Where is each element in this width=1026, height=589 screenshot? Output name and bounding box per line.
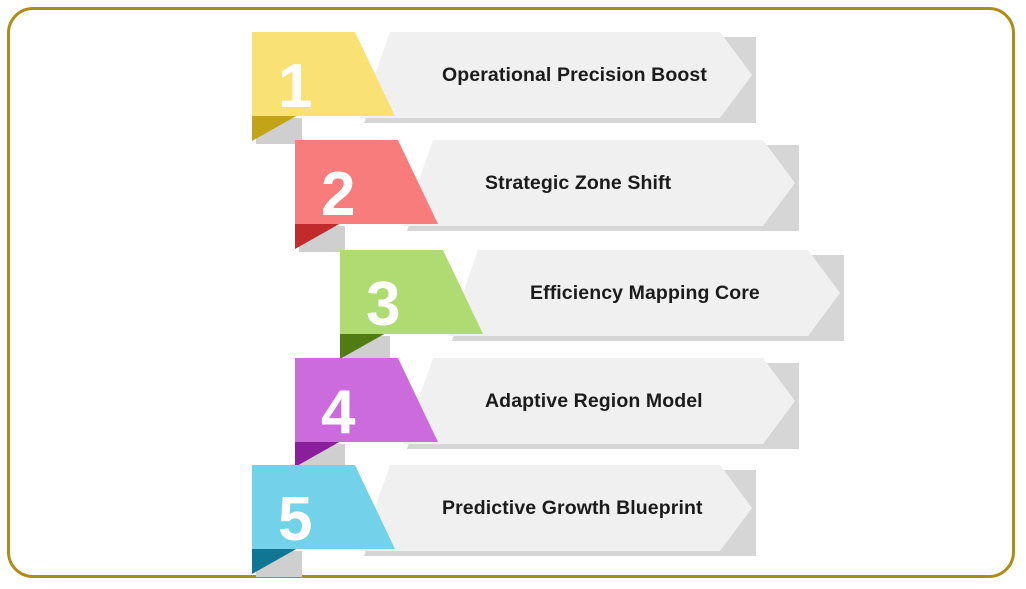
banner-body: Adaptive Region Model bbox=[403, 358, 795, 444]
step-row[interactable]: Predictive Growth Blueprint5 bbox=[252, 465, 762, 555]
step-number-block[interactable]: 3 bbox=[340, 250, 483, 360]
banner-body: Strategic Zone Shift bbox=[403, 140, 795, 226]
step-label: Efficiency Mapping Core bbox=[530, 282, 760, 305]
step-banner[interactable]: Predictive Growth Blueprint bbox=[360, 465, 752, 551]
number-block-body bbox=[295, 358, 438, 442]
step-row[interactable]: Strategic Zone Shift2 bbox=[295, 140, 805, 230]
number-block-body bbox=[252, 32, 395, 116]
step-banner[interactable]: Efficiency Mapping Core bbox=[448, 250, 840, 336]
step-number-block[interactable]: 1 bbox=[252, 32, 395, 142]
step-number-block[interactable]: 5 bbox=[252, 465, 395, 575]
step-row[interactable]: Efficiency Mapping Core3 bbox=[340, 250, 850, 340]
banner-body: Predictive Growth Blueprint bbox=[360, 465, 752, 551]
step-number: 2 bbox=[321, 164, 355, 226]
step-row[interactable]: Operational Precision Boost1 bbox=[252, 32, 762, 122]
diagram-canvas: Operational Precision Boost1Strategic Zo… bbox=[0, 0, 1026, 589]
banner-body: Operational Precision Boost bbox=[360, 32, 752, 118]
step-label: Adaptive Region Model bbox=[485, 390, 703, 413]
number-block-body bbox=[295, 140, 438, 224]
step-number-block[interactable]: 4 bbox=[295, 358, 438, 468]
step-row[interactable]: Adaptive Region Model4 bbox=[295, 358, 805, 448]
step-number-block[interactable]: 2 bbox=[295, 140, 438, 250]
step-label: Predictive Growth Blueprint bbox=[442, 497, 703, 520]
number-block-body bbox=[340, 250, 483, 334]
step-number: 5 bbox=[278, 489, 312, 551]
step-banner[interactable]: Strategic Zone Shift bbox=[403, 140, 795, 226]
step-banner[interactable]: Adaptive Region Model bbox=[403, 358, 795, 444]
step-label: Operational Precision Boost bbox=[442, 64, 707, 87]
step-number: 4 bbox=[321, 382, 355, 444]
step-label: Strategic Zone Shift bbox=[485, 172, 671, 195]
number-block-body bbox=[252, 465, 395, 549]
step-banner[interactable]: Operational Precision Boost bbox=[360, 32, 752, 118]
step-number: 3 bbox=[366, 274, 400, 336]
banner-body: Efficiency Mapping Core bbox=[448, 250, 840, 336]
step-number: 1 bbox=[278, 56, 312, 118]
